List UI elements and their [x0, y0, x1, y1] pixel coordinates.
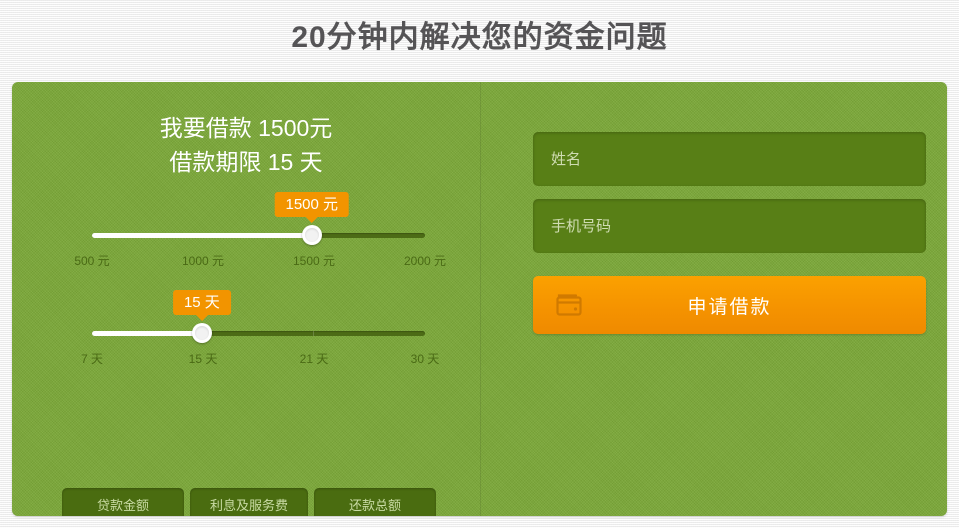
- loan-term-track[interactable]: [92, 331, 425, 336]
- summary-box-total: 还款总额 1725 元: [314, 488, 436, 516]
- loan-amount-track[interactable]: [92, 233, 425, 238]
- calculator-heading-line2: 借款期限 15 天: [12, 145, 480, 179]
- name-input[interactable]: [533, 132, 926, 186]
- loan-term-tick-label[interactable]: 15 天: [189, 350, 218, 368]
- loan-amount-scale: 500 元 1000 元 1500 元 2000 元: [12, 252, 480, 270]
- summary-label: 利息及服务费: [190, 496, 308, 516]
- summary-box-principal: 贷款金额 1500 元: [62, 488, 184, 516]
- calculator-heading-line1: 我要借款 1500元: [160, 115, 333, 141]
- phone-input[interactable]: [533, 199, 926, 253]
- loan-amount-bubble: 1500 元: [274, 192, 349, 217]
- loan-term-bubble: 15 天: [173, 290, 231, 315]
- loan-term-handle[interactable]: [192, 323, 212, 343]
- loan-application-panel: 我要借款 1500元 借款期限 15 天 1500 元 500 元 1000 元…: [12, 82, 947, 516]
- loan-term-scale: 7 天 15 天 21 天 30 天: [12, 350, 480, 368]
- loan-term-tick: [313, 331, 314, 336]
- summary-label: 贷款金额: [62, 496, 184, 516]
- page-title: 20分钟内解决您的资金问题: [0, 18, 959, 58]
- apply-loan-button[interactable]: 申请借款: [533, 276, 926, 334]
- loan-amount-tick-label[interactable]: 2000 元: [404, 252, 446, 270]
- summary-box-interest: 利息及服务费 225 元: [190, 488, 308, 516]
- loan-amount-handle[interactable]: [302, 225, 322, 245]
- loan-term-tick-label[interactable]: 7 天: [81, 350, 103, 368]
- loan-amount-tick-label[interactable]: 500 元: [74, 252, 109, 270]
- loan-amount-tick-label[interactable]: 1500 元: [293, 252, 335, 270]
- loan-term-track-fill: [92, 331, 202, 336]
- loan-amount-tick-label[interactable]: 1000 元: [182, 252, 224, 270]
- loan-term-tick-label[interactable]: 30 天: [411, 350, 440, 368]
- calculator-heading: 我要借款 1500元 借款期限 15 天: [12, 111, 480, 179]
- loan-amount-tick: [202, 233, 203, 238]
- loan-calculator: 我要借款 1500元 借款期限 15 天 1500 元 500 元 1000 元…: [12, 82, 480, 516]
- loan-summary: 贷款金额 1500 元 利息及服务费 225 元 还款总额 1725 元: [62, 488, 436, 516]
- apply-loan-button-label: 申请借款: [687, 292, 771, 319]
- application-form: 申请借款: [481, 82, 947, 516]
- summary-label: 还款总额: [314, 496, 436, 516]
- loan-term-tick-label[interactable]: 21 天: [300, 350, 329, 368]
- wallet-icon: [556, 293, 582, 316]
